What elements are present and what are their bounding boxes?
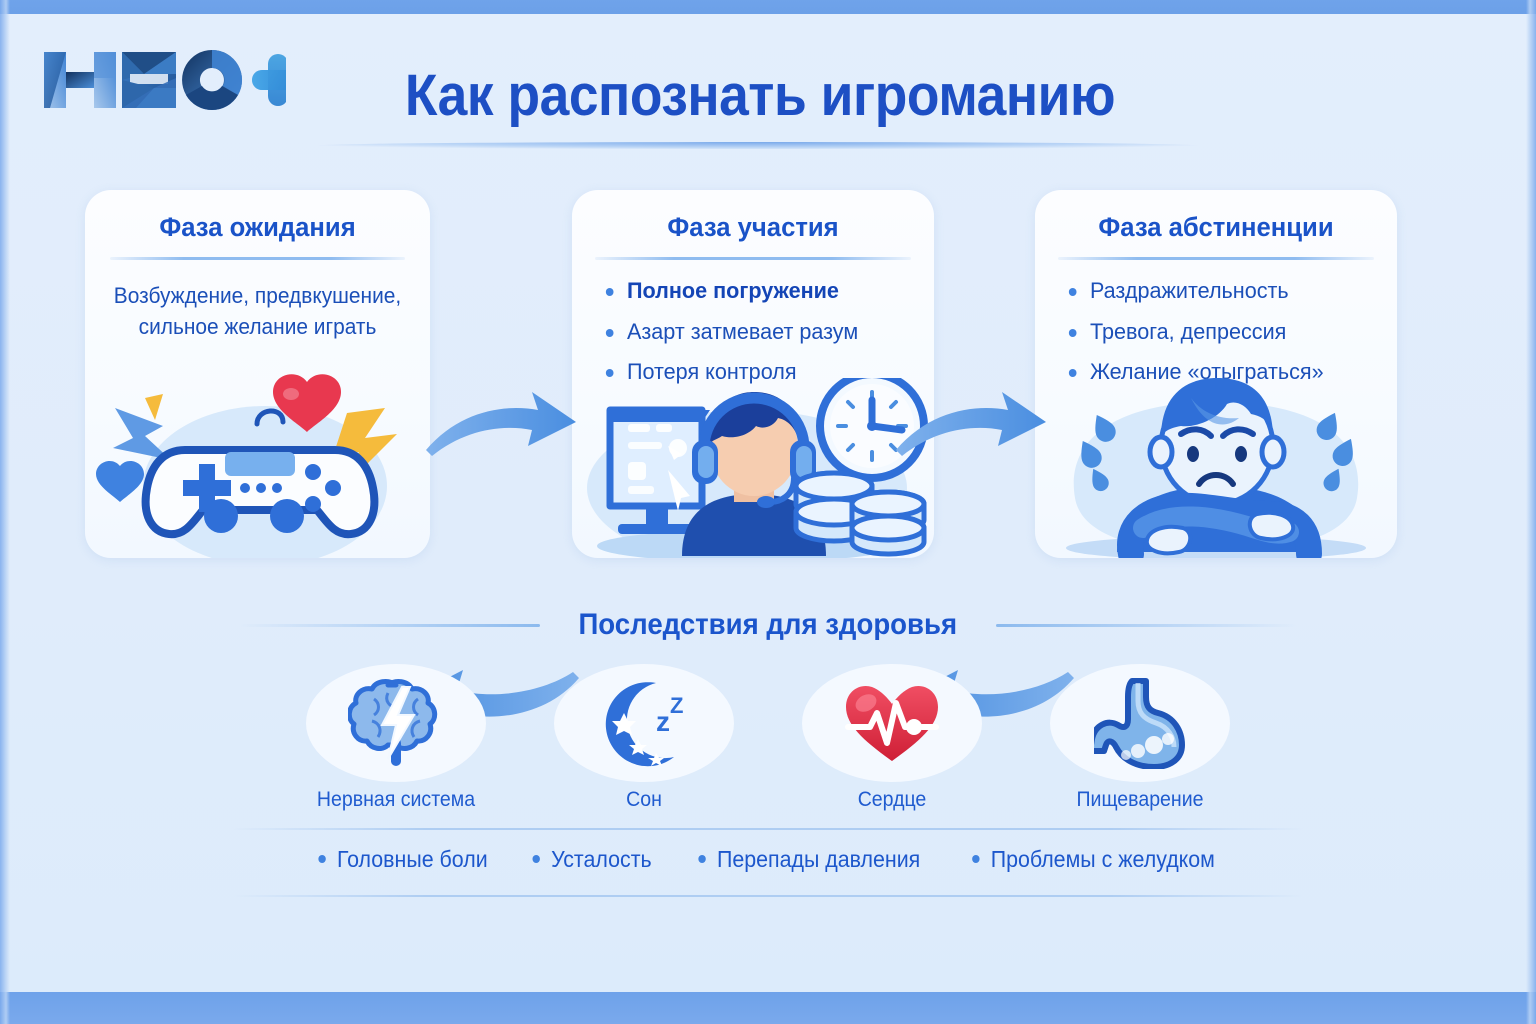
arrow-phase1-to-phase2 — [420, 388, 580, 468]
phases-section: Фаза ожидания Возбуждение, предвкушение,… — [0, 190, 1536, 570]
svg-text:Z: Z — [670, 693, 683, 718]
list-item: Проблемы с желудком — [972, 846, 1215, 873]
phase-title: Фаза участия — [581, 212, 925, 243]
phase-bullet-list: Полное погружение Азарт затмевает разум … — [572, 280, 934, 384]
stomach-icon — [1094, 677, 1186, 769]
consequences-header: Последствия для здоровья — [0, 600, 1536, 650]
footer-divider-bottom — [233, 895, 1303, 897]
consequences-title: Последствия для здоровья — [558, 608, 977, 642]
top-band — [0, 0, 1536, 14]
title-underline — [318, 142, 1198, 149]
list-item: Раздражительность — [1065, 280, 1384, 303]
sad-person-illustration — [1035, 378, 1397, 558]
bottom-band — [0, 992, 1536, 1024]
brand-logo — [36, 44, 286, 116]
svg-text:z: z — [656, 706, 670, 737]
phase-card-anticipation[interactable]: Фаза ожидания Возбуждение, предвкушение,… — [85, 190, 430, 558]
consequences-section: Последствия для здоровья — [0, 600, 1536, 897]
list-item: Азарт затмевает разум — [602, 321, 921, 344]
icon-label: Сердце — [808, 788, 975, 812]
phase-card-participation[interactable]: Фаза участия Полное погружение Азарт зат… — [572, 190, 934, 558]
neo-plus-logo-icon — [36, 44, 286, 116]
consequence-item-nervous-system[interactable]: Нервная система — [306, 664, 486, 812]
list-item: Полное погружение — [602, 280, 921, 303]
list-item: Тревога, депрессия — [1065, 321, 1384, 344]
card-divider — [110, 257, 405, 260]
icon-bubble — [802, 664, 982, 782]
gamer-headset-clock-coins-illustration — [572, 378, 934, 558]
icon-bubble: z Z — [554, 664, 734, 782]
icon-label: Пищеварение — [1056, 788, 1223, 812]
card-divider — [595, 257, 911, 260]
page-title: Как распознать игроманию — [374, 62, 1147, 129]
phase-card-withdrawal[interactable]: Фаза абстиненции Раздражительность Трево… — [1035, 190, 1397, 558]
list-item: Усталость — [533, 846, 652, 873]
icon-bubble — [1050, 664, 1230, 782]
list-item: Головные боли — [318, 846, 487, 873]
divider-right — [996, 624, 1296, 627]
consequence-item-digestion[interactable]: Пищеварение — [1050, 664, 1230, 812]
card-divider — [1058, 257, 1374, 260]
header: Как распознать игроманию — [0, 18, 1536, 138]
footer-divider-top — [233, 828, 1303, 830]
infographic-page: Как распознать игроманию Фаза ожидания В… — [0, 0, 1536, 1024]
consequence-item-sleep[interactable]: z Z Сон — [554, 664, 734, 812]
phase-title: Фаза абстиненции — [1044, 212, 1388, 243]
consequence-item-heart[interactable]: Сердце — [802, 664, 982, 812]
icon-bubble — [306, 664, 486, 782]
icon-label: Сон — [560, 788, 727, 812]
phase-description: Возбуждение, предвкушение, сильное желан… — [94, 280, 422, 342]
phase-bullet-list: Раздражительность Тревога, депрессия Жел… — [1035, 280, 1397, 384]
arrow-phase2-to-phase3 — [890, 388, 1050, 468]
divider-left — [240, 624, 540, 627]
symptoms-list: Головные боли Усталость Перепады давлени… — [0, 846, 1536, 873]
phase-title: Фаза ожидания — [94, 212, 422, 243]
icon-label: Нервная система — [312, 788, 479, 812]
heart-pulse-icon — [842, 679, 942, 767]
moon-zzz-icon: z Z — [594, 677, 694, 769]
consequence-icons-row: Нервная система z Z Сон — [0, 664, 1536, 812]
gamepad-heart-illustration — [85, 368, 430, 558]
list-item: Перепады давления — [699, 846, 921, 873]
brain-lightning-icon — [348, 677, 444, 769]
